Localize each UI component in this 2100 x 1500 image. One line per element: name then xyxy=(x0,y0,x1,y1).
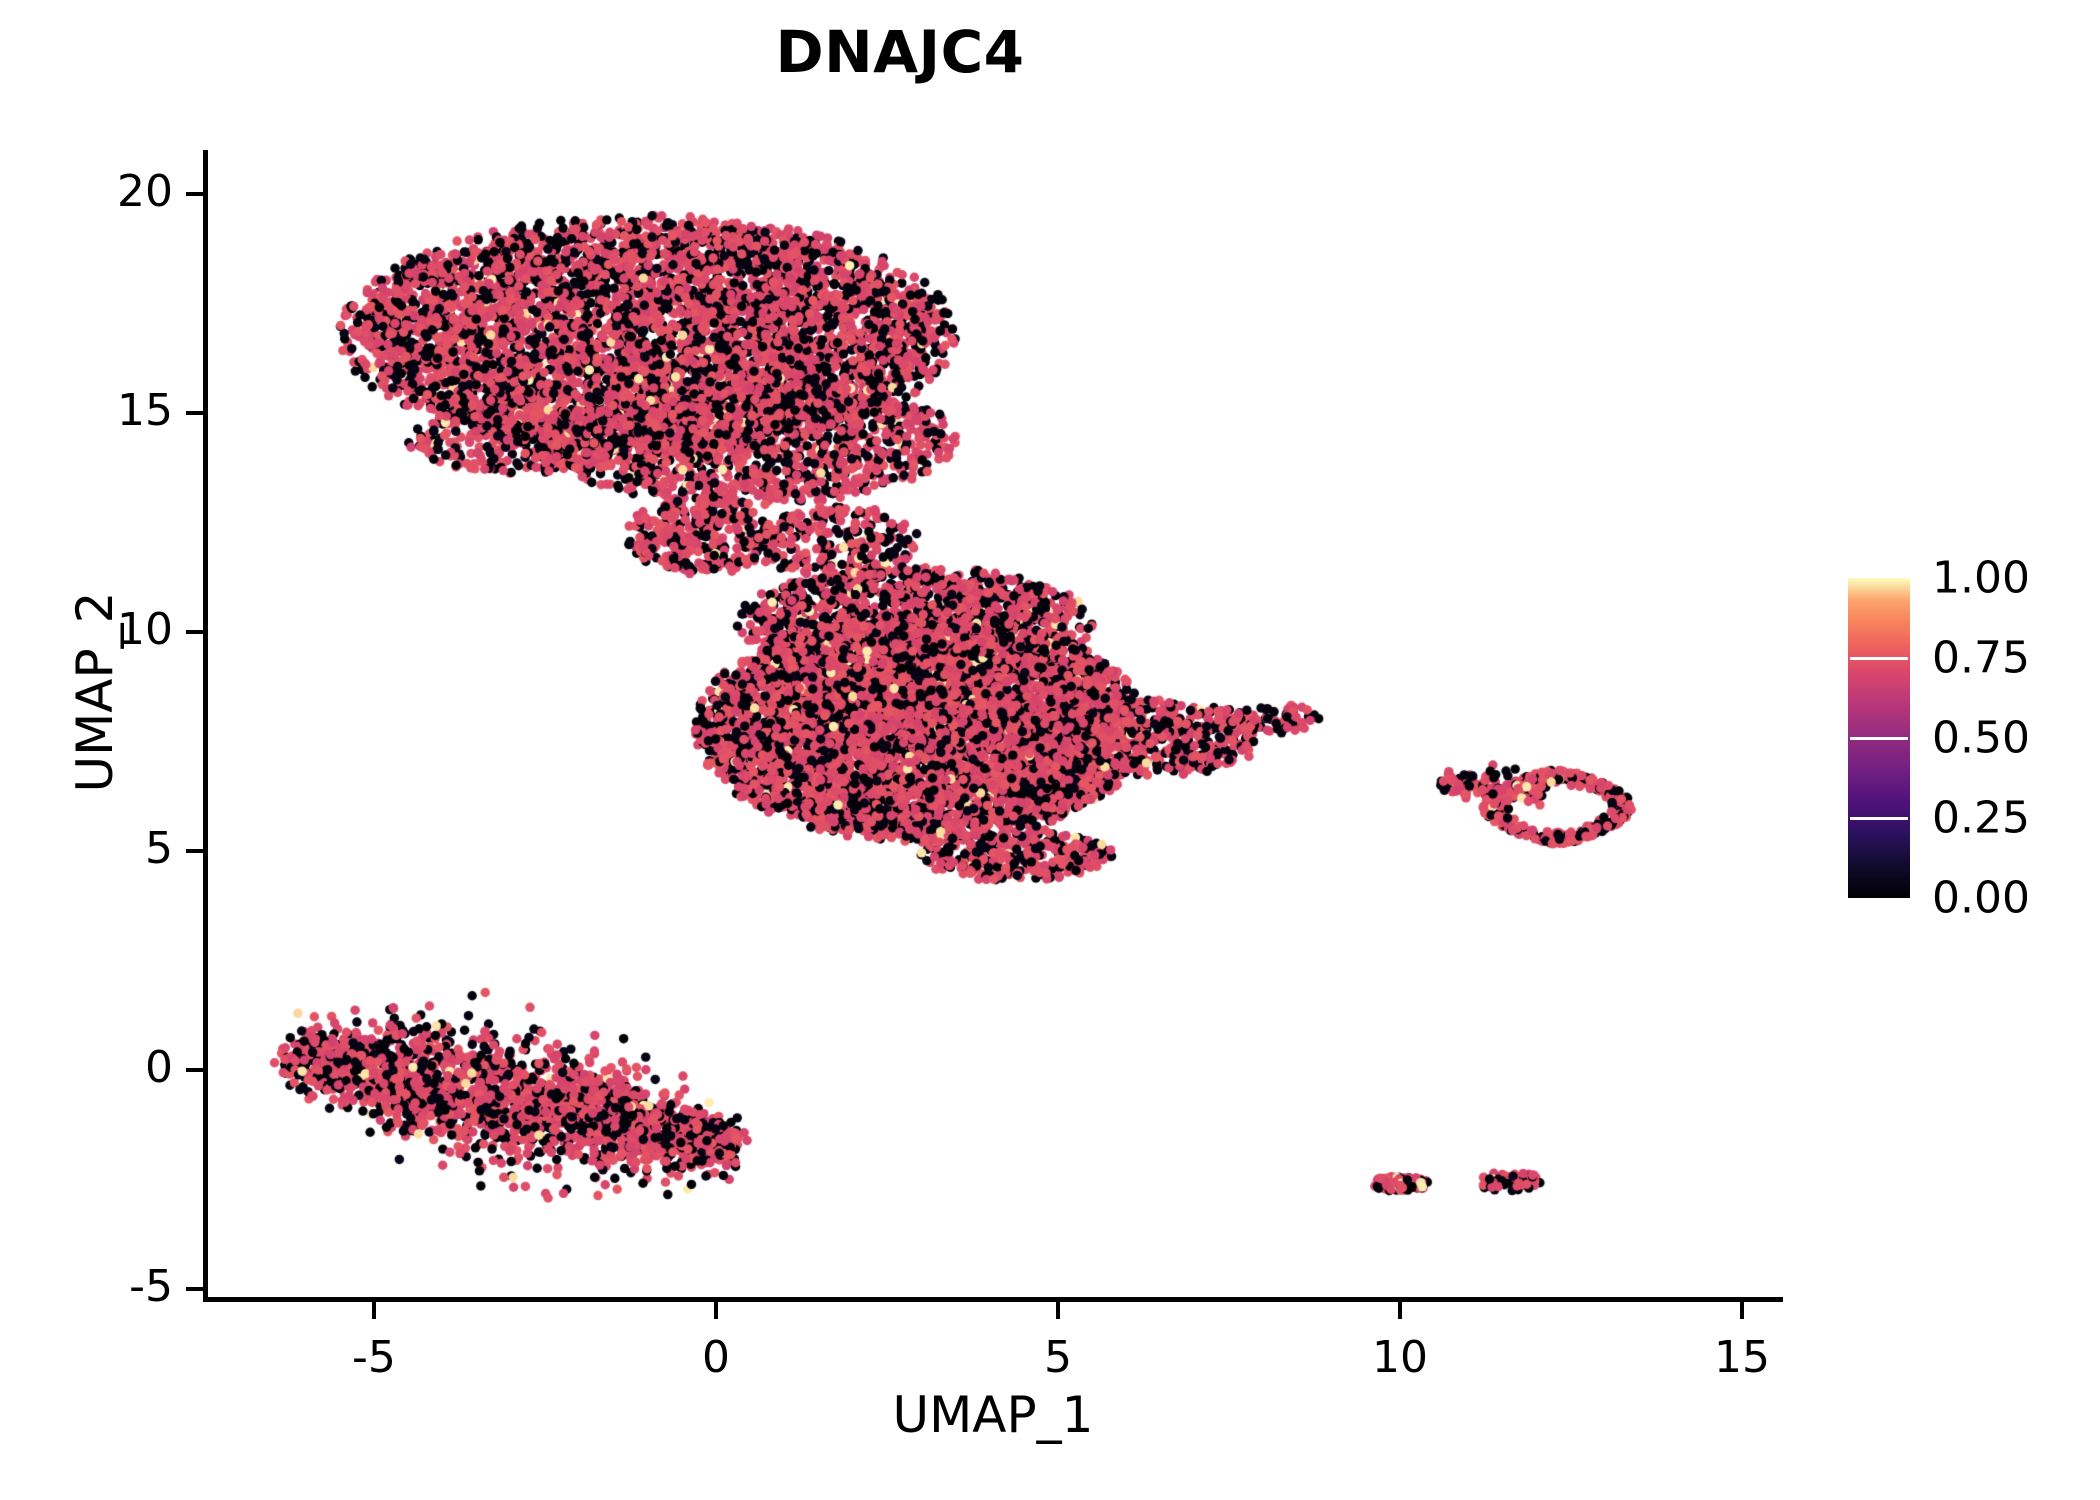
y-tick-mark xyxy=(186,1287,203,1291)
x-tick-mark xyxy=(714,1302,718,1319)
y-tick-mark xyxy=(186,630,203,634)
scatter-plot-canvas xyxy=(203,150,1783,1302)
x-axis-spine xyxy=(203,1297,1783,1302)
x-tick-label: -5 xyxy=(264,1332,484,1383)
colorbar-tick-mark xyxy=(1850,737,1908,740)
x-axis-label: UMAP_1 xyxy=(203,1386,1783,1444)
y-tick-mark xyxy=(186,1068,203,1072)
x-tick-label: 0 xyxy=(606,1332,826,1383)
y-tick-label: -5 xyxy=(0,1261,173,1312)
x-tick-label: 10 xyxy=(1290,1332,1510,1383)
x-tick-label: 15 xyxy=(1632,1332,1852,1383)
colorbar-tick-label: 0.75 xyxy=(1932,633,2030,684)
y-axis-spine xyxy=(203,150,208,1302)
x-tick-mark xyxy=(372,1302,376,1319)
y-tick-mark xyxy=(186,849,203,853)
y-tick-mark xyxy=(186,192,203,196)
colorbar-tick-mark xyxy=(1850,657,1908,660)
colorbar-legend: 0.000.250.500.751.00 xyxy=(1848,578,2088,908)
colorbar-tick-label: 0.25 xyxy=(1932,793,2030,844)
colorbar-tick-label: 0.00 xyxy=(1932,873,2030,924)
x-tick-mark xyxy=(1056,1302,1060,1319)
page-title: DNAJC4 xyxy=(0,18,1800,86)
y-tick-mark xyxy=(186,411,203,415)
x-tick-mark xyxy=(1740,1302,1744,1319)
y-axis-label: UMAP_2 xyxy=(66,292,124,1092)
colorbar-tick-label: 1.00 xyxy=(1932,553,2030,604)
x-tick-label: 5 xyxy=(948,1332,1168,1383)
colorbar-tick-label: 0.50 xyxy=(1932,713,2030,764)
colorbar-tick-mark xyxy=(1850,817,1908,820)
umap-feature-plot: DNAJC4 -505101520 -5051015 UMAP_1 UMAP_2… xyxy=(0,0,2100,1500)
x-tick-mark xyxy=(1398,1302,1402,1319)
y-tick-label: 20 xyxy=(0,166,173,217)
plot-axes-area: -505101520 -5051015 xyxy=(203,150,1783,1302)
